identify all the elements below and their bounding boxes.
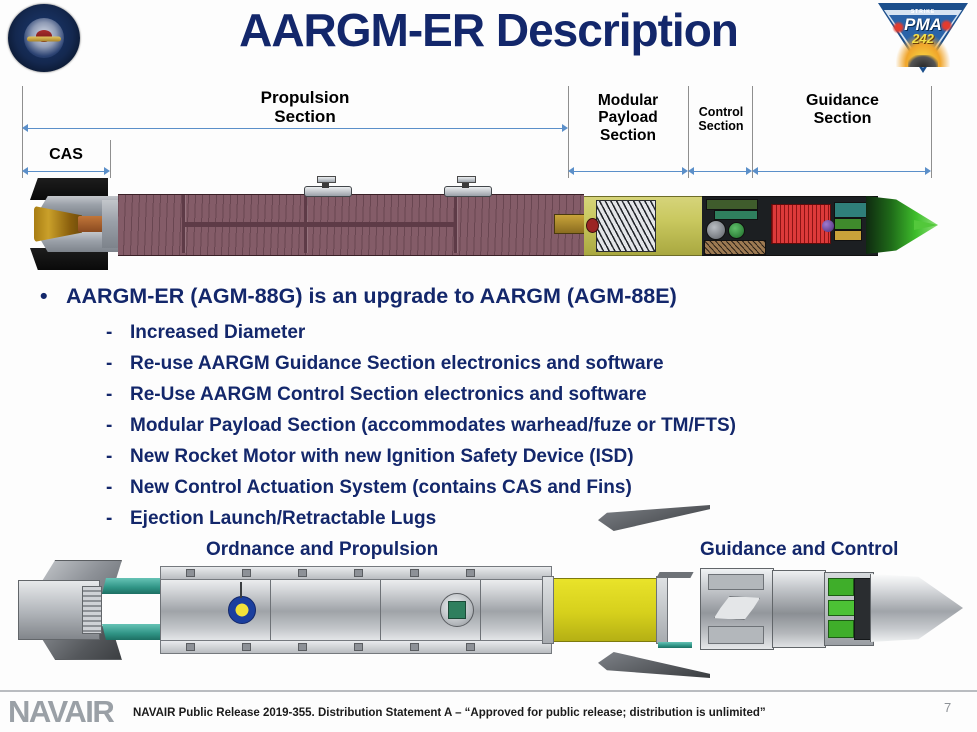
label-guidance-and-control: Guidance and Control [700, 539, 898, 561]
guidance-board-teal [834, 202, 870, 218]
gc-green-board-3 [828, 620, 854, 638]
cad-band-stud [186, 643, 195, 651]
gc-aft-panel-top [708, 574, 764, 590]
cad-teal-band-lower [102, 624, 168, 640]
arrow-cas [22, 167, 110, 176]
sub-bullet-0: -Increased Diameter [40, 323, 940, 342]
divider-propulsion [568, 86, 569, 178]
cad-band-stud [410, 569, 419, 577]
divider-control [752, 86, 753, 178]
lug-head-1 [317, 176, 336, 183]
sub-bullet-5: -New Control Actuation System (contains … [40, 478, 940, 497]
cad-teal-band-upper [102, 578, 168, 594]
cad-access-port-fitting [448, 601, 466, 619]
sub-marker: - [106, 323, 112, 342]
cad-motor-body [160, 576, 552, 644]
grain-center-bore [182, 222, 454, 227]
motor-case-aft-port [554, 214, 586, 234]
guidance-board-amber [834, 230, 862, 241]
control-circuit-board-1 [706, 199, 758, 210]
cad-forward-rail-top [656, 572, 693, 578]
sub-bullet-text: New Control Actuation System (contains C… [106, 478, 632, 497]
arrow-control [688, 167, 752, 176]
gc-ogive-nose [870, 574, 963, 642]
cad-band-stud [354, 569, 363, 577]
cad-payload-end-flange [656, 576, 668, 644]
lug-head-2 [457, 176, 476, 183]
sub-bullet-1: -Re-use AARGM Guidance Section electroni… [40, 354, 940, 373]
sub-marker: - [106, 447, 112, 466]
sub-marker: - [106, 478, 112, 497]
gc-dark-board [854, 578, 872, 640]
cad-band-stud [298, 569, 307, 577]
payload-hatch-panel [596, 200, 656, 252]
sub-bullet-text: New Rocket Motor with new Ignition Safet… [106, 447, 634, 466]
cad-band-stud [242, 569, 251, 577]
main-bullet-text: AARGM-ER (AGM-88G) is an upgrade to AARG… [66, 284, 677, 308]
sub-bullet-4: -New Rocket Motor with new Ignition Safe… [40, 447, 940, 466]
cad-band-stud [466, 643, 475, 651]
arrow-modular-payload [568, 167, 688, 176]
cad-body-ring-3 [480, 577, 481, 641]
page-title: AARGM-ER Description [0, 6, 977, 54]
sub-bullet-2: -Re-Use AARGM Control Section electronic… [40, 385, 940, 404]
label-propulsion-section: Propulsion Section [160, 88, 450, 126]
sub-marker: - [106, 354, 112, 373]
sub-bullet-3: -Modular Payload Section (accommodates w… [40, 416, 940, 435]
sub-marker: - [106, 509, 112, 528]
isd-indicator-roundel [228, 596, 256, 624]
gc-green-board-1 [828, 578, 854, 596]
navair-wordmark: NAVAIR [8, 694, 113, 730]
cad-body-ring-1 [270, 577, 271, 641]
control-circuit-board-2 [714, 210, 758, 220]
cad-payload-module [550, 578, 662, 642]
sub-bullet-text: Re-Use AARGM Control Section electronics… [106, 385, 647, 404]
sub-bullet-text: Modular Payload Section (accommodates wa… [106, 416, 736, 435]
cad-band-stud [186, 569, 195, 577]
ordnance-propulsion-cad [10, 560, 690, 665]
gc-aft-panel-bottom [708, 626, 764, 644]
sub-marker: - [106, 416, 112, 435]
label-control-section: Control Section [690, 105, 752, 133]
release-statement: NAVAIR Public Release 2019-355. Distribu… [133, 707, 766, 719]
pma-242-logo: STRIKE PMA 242 [878, 3, 968, 75]
guidance-board-green [834, 218, 862, 230]
cad-band-stud [298, 643, 307, 651]
nozzle-throat [78, 216, 104, 232]
sub-marker: - [106, 385, 112, 404]
label-ordnance-and-propulsion: Ordnance and Propulsion [206, 539, 438, 561]
divider-cas-right [110, 140, 111, 178]
footer-divider [0, 690, 977, 692]
gc-mid-body [772, 570, 826, 648]
page-number: 7 [944, 700, 951, 715]
cad-band-stud [410, 643, 419, 651]
sub-bullet-6: -Ejection Launch/Retractable Lugs [40, 509, 940, 528]
guidance-sensor-purple [822, 220, 834, 232]
control-actuator-disc [706, 220, 726, 240]
missile-cutaway-diagram [14, 176, 934, 276]
label-guidance-section: Guidance Section [754, 92, 931, 128]
cad-forward-rail-bottom [658, 642, 692, 648]
sub-bullet-text: Re-use AARGM Guidance Section electronic… [106, 354, 664, 373]
cad-payload-aft-flange [542, 576, 554, 644]
arrow-propulsion [22, 124, 568, 133]
control-base-panel [704, 240, 766, 255]
arrow-guidance [752, 167, 931, 176]
cad-band-stud [354, 643, 363, 651]
divider-guidance [931, 86, 932, 178]
navair-seal-logo [8, 4, 80, 72]
label-cas-section: CAS [22, 146, 110, 164]
pma-number-text: 242 [878, 31, 968, 46]
cad-band-stud [242, 643, 251, 651]
guidance-control-cad [700, 562, 962, 660]
sub-bullet-text: Increased Diameter [106, 323, 305, 342]
bullet-marker: • [40, 286, 66, 308]
cad-body-ring-2 [380, 577, 381, 641]
cad-band-stud [466, 569, 475, 577]
bullet-list: •AARGM-ER (AGM-88G) is an upgrade to AAR… [40, 286, 940, 528]
cad-cas-ribs [82, 586, 102, 634]
grain-rib-3 [454, 195, 457, 253]
main-bullet: •AARGM-ER (AGM-88G) is an upgrade to AAR… [40, 286, 940, 308]
control-gyro-disc [728, 222, 745, 239]
isd-lead-line [240, 582, 242, 598]
payload-fuze-port [586, 218, 599, 233]
label-modular-payload-section: Modular Payload Section [570, 92, 686, 144]
sub-bullet-text: Ejection Launch/Retractable Lugs [106, 509, 436, 528]
divider-payload [688, 86, 689, 178]
